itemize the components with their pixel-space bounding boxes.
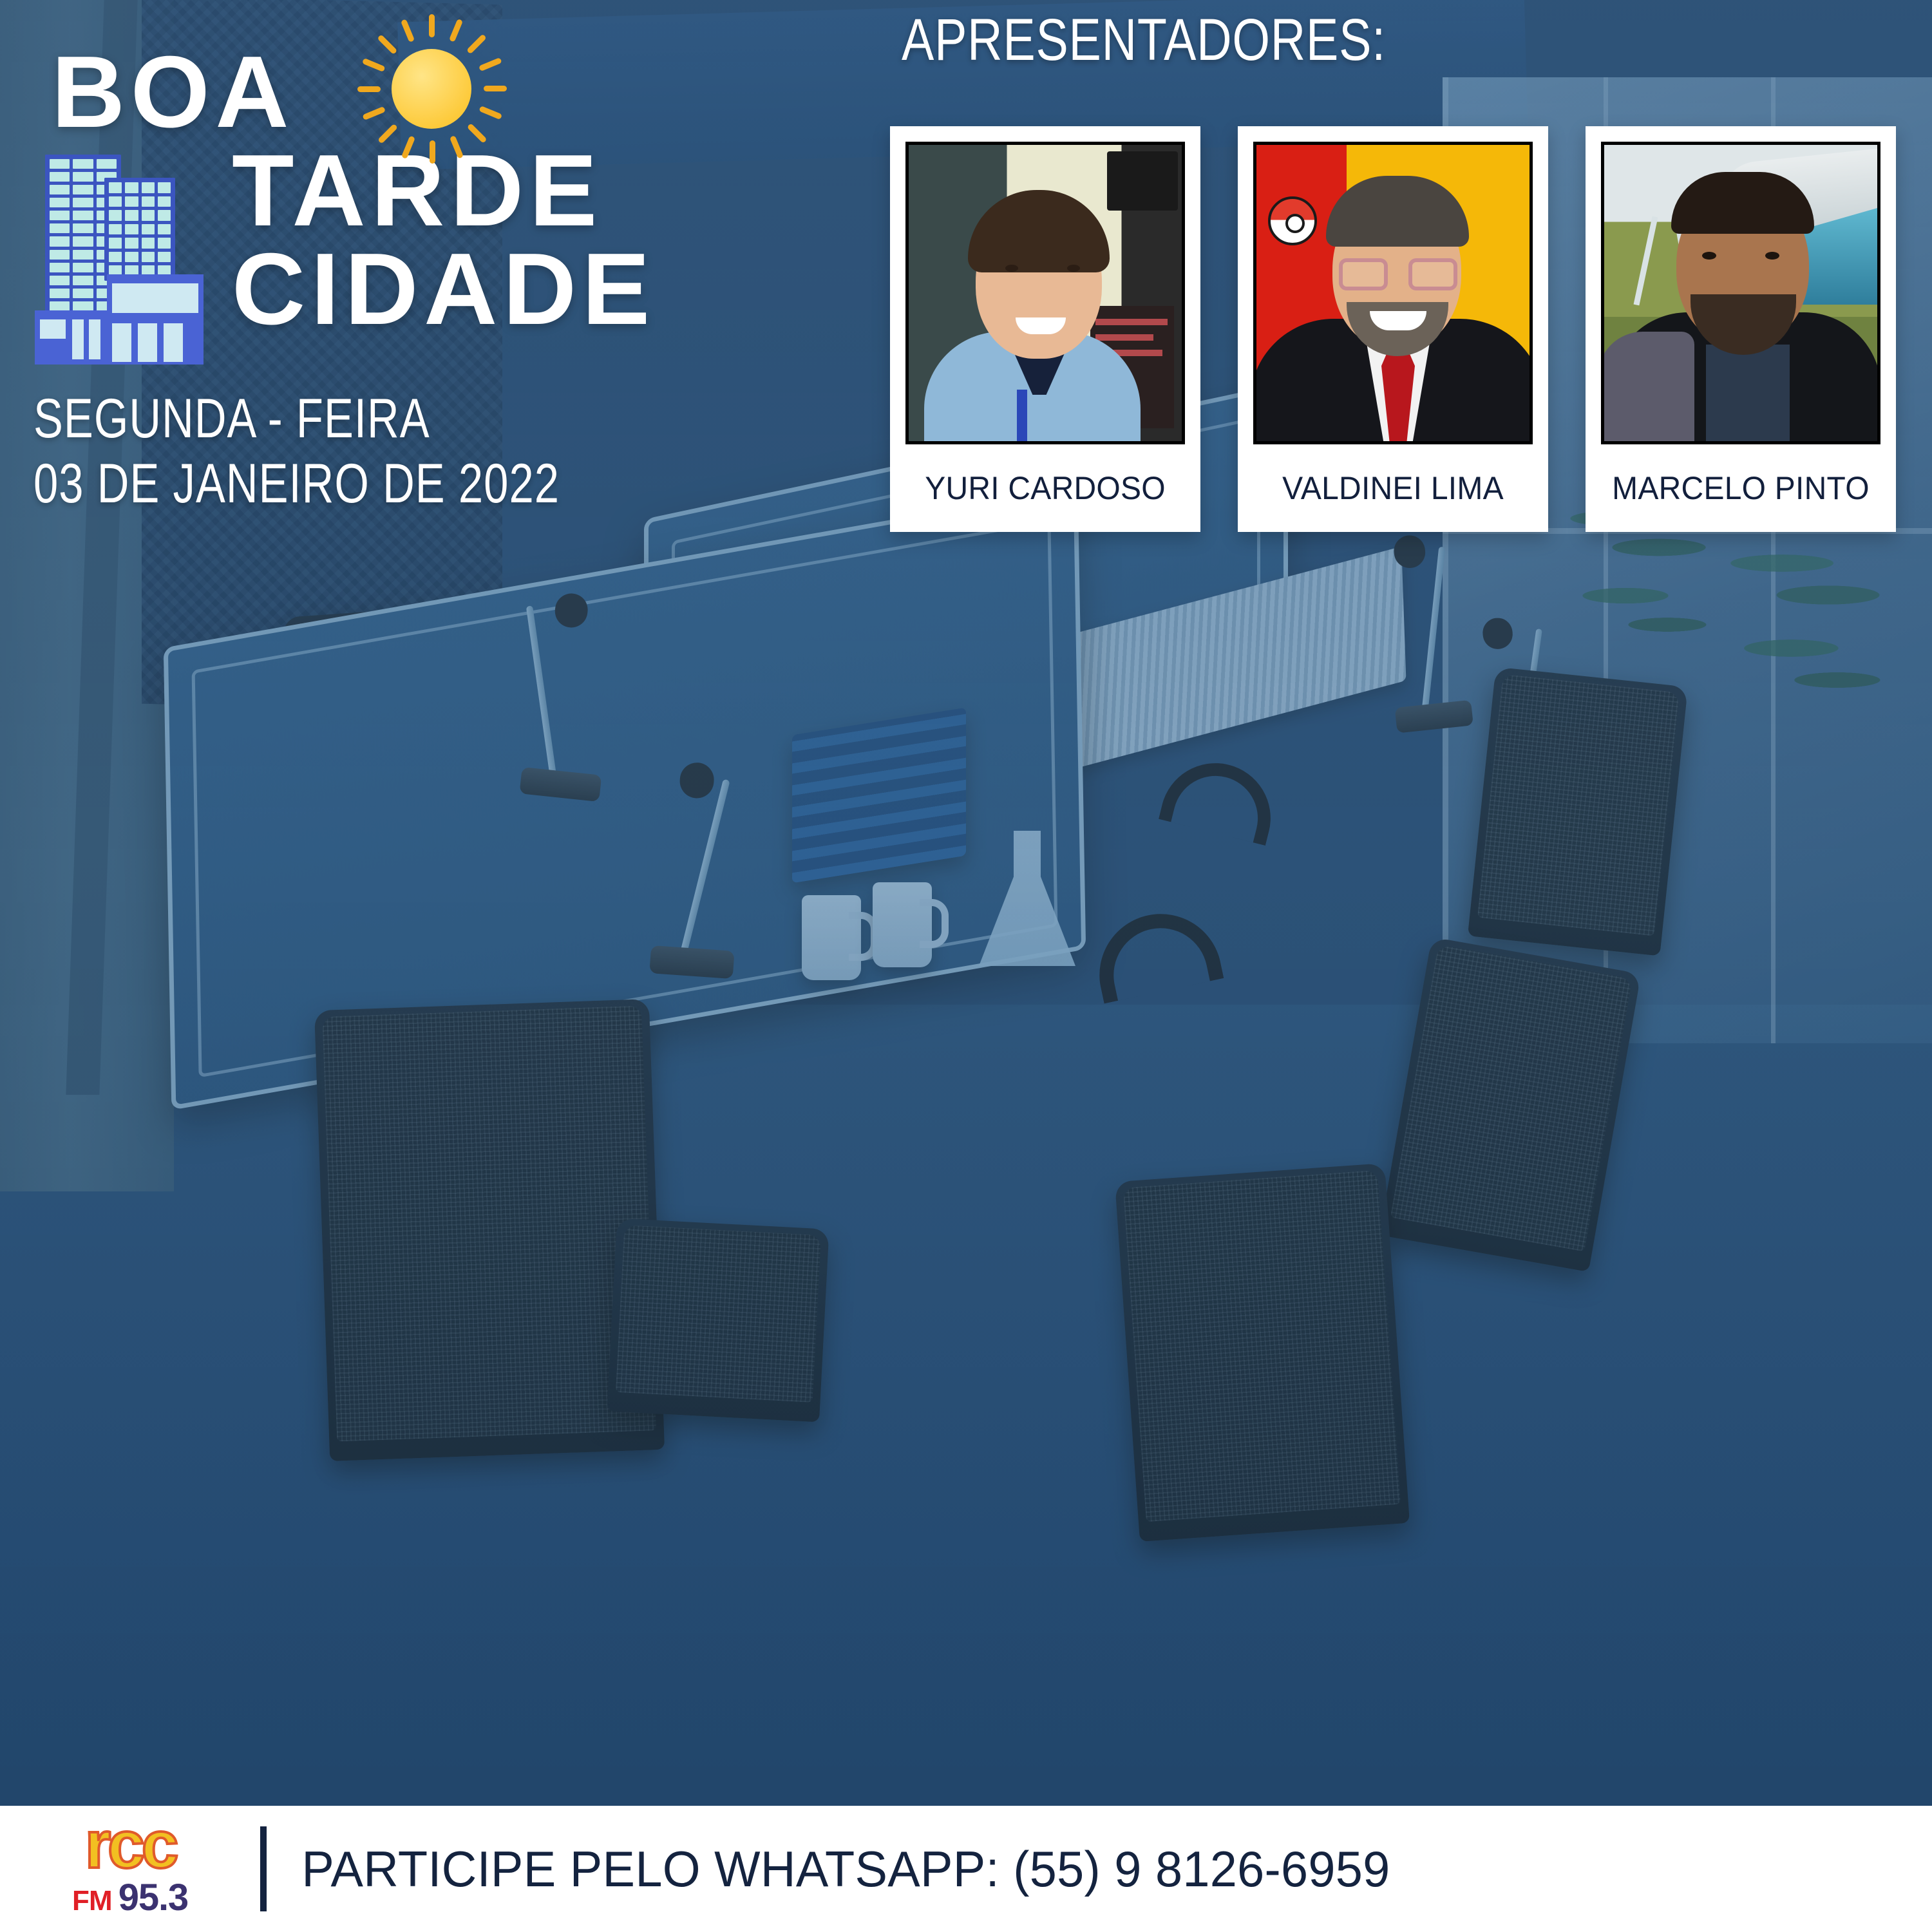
presenter-name-yuri-cardoso: YURI CARDOSO (911, 444, 1180, 532)
sun-icon (354, 12, 509, 166)
presenters-row: YURI CARDOSO VALDINEI LIMA (890, 126, 1896, 532)
rcc-frequency-group: FM 95.3 (72, 1876, 188, 1919)
show-title-line-2: TARDE (232, 144, 837, 238)
city-skyline-icon (32, 148, 245, 367)
presenter-name-marcelo-pinto: MARCELO PINTO (1607, 444, 1875, 532)
rcc-wordmark: rcc (85, 1819, 176, 1872)
broadcast-date: SEGUNDA - FEIRA 03 DE JANEIRO DE 2022 (33, 386, 806, 517)
footer-divider (260, 1826, 267, 1911)
presenter-name-valdinei-lima: VALDINEI LIMA (1259, 444, 1528, 532)
presenter-photo-marcelo-pinto (1601, 142, 1880, 444)
presenters-heading: APRESENTADORES: (902, 6, 1386, 74)
rcc-station-logo[interactable]: rcc FM 95.3 (0, 1806, 260, 1932)
show-title-line-3: CIDADE (232, 242, 837, 337)
footer-bar: rcc FM 95.3 PARTICIPE PELO WHATSAPP: (55… (0, 1806, 1932, 1932)
date-label: 03 DE JANEIRO DE 2022 (33, 451, 652, 516)
rcc-band-label: FM (72, 1885, 112, 1917)
presenter-photo-valdinei-lima (1253, 142, 1533, 444)
presenter-card-yuri-cardoso[interactable]: YURI CARDOSO (890, 126, 1200, 532)
presenter-photo-yuri-cardoso (905, 142, 1185, 444)
broadcast-promo-poster: BOA TARDE CIDADE (0, 0, 1932, 1932)
whatsapp-cta: PARTICIPE PELO WHATSAPP: (55) 9 8126-695… (267, 1840, 1390, 1899)
presenter-card-marcelo-pinto[interactable]: MARCELO PINTO (1586, 126, 1896, 532)
rcc-frequency-label: 95.3 (118, 1876, 188, 1919)
weekday-label: SEGUNDA - FEIRA (33, 386, 652, 451)
presenter-card-valdinei-lima[interactable]: VALDINEI LIMA (1238, 126, 1548, 532)
